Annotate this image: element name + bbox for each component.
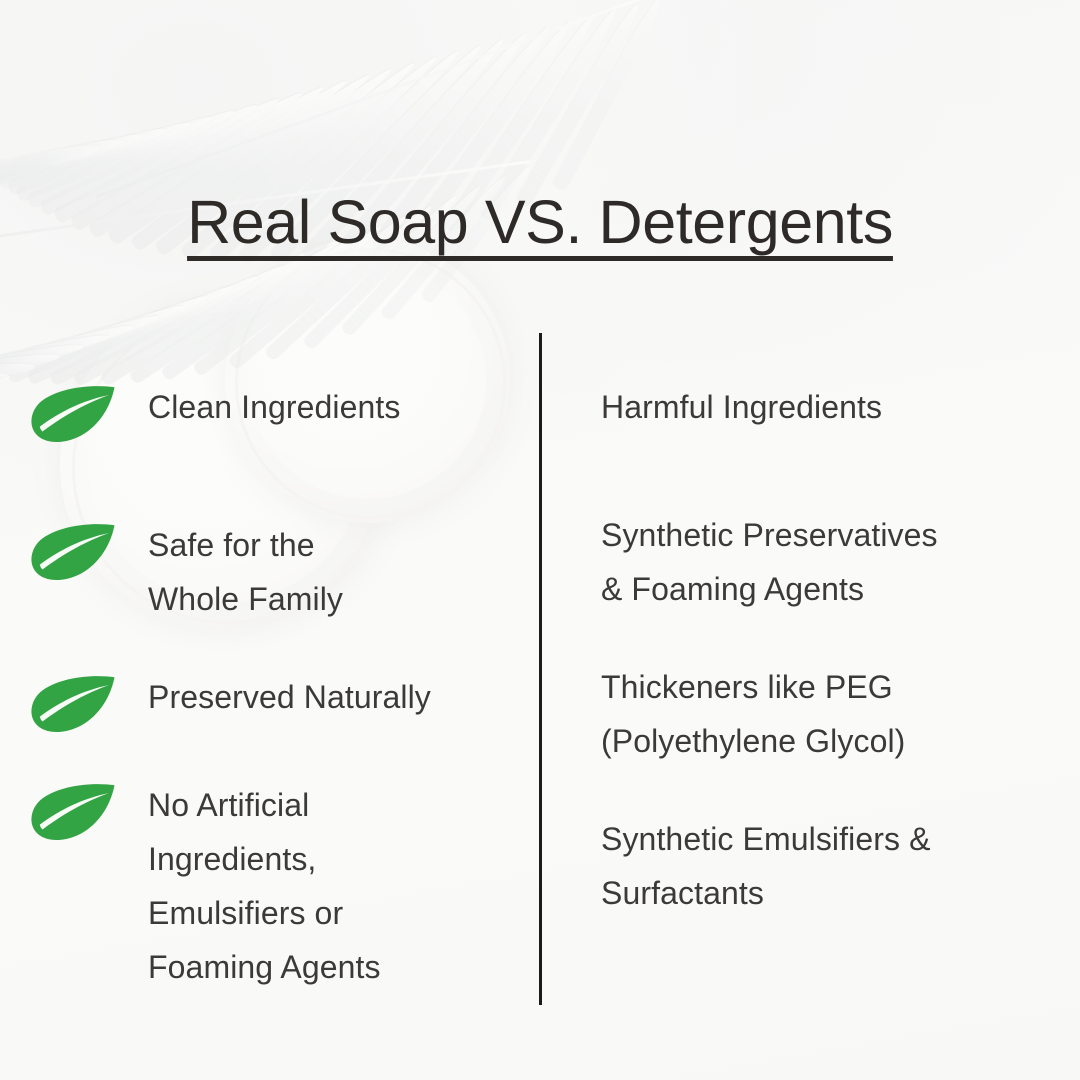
poster-content: Real Soap VS. Detergents Clean Ingredien… bbox=[0, 0, 1080, 1080]
list-item: Thickeners like PEG (Polyethylene Glycol… bbox=[601, 660, 1031, 768]
list-item-label: Harmful Ingredients bbox=[601, 380, 882, 434]
list-item: Synthetic Preservatives & Foaming Agents bbox=[601, 508, 1031, 616]
column-divider bbox=[539, 333, 542, 1005]
leaf-icon bbox=[30, 518, 148, 582]
list-item-label: Clean Ingredients bbox=[148, 380, 401, 434]
page-title-text: Real Soap VS. Detergents bbox=[187, 188, 893, 256]
comparison-column-right: Harmful Ingredients Synthetic Preservati… bbox=[601, 380, 1031, 920]
leaf-icon bbox=[30, 670, 148, 734]
leaf-icon bbox=[30, 380, 148, 444]
list-item: Clean Ingredients bbox=[30, 380, 530, 444]
comparison-column-left: Clean Ingredients Safe for the Whole Fam… bbox=[30, 380, 530, 994]
list-item: Harmful Ingredients bbox=[601, 380, 1031, 434]
list-item-label: Preserved Naturally bbox=[148, 670, 431, 724]
list-item: No Artificial Ingredients, Emulsifiers o… bbox=[30, 778, 530, 994]
list-item-label: Safe for the Whole Family bbox=[148, 518, 343, 626]
list-item: Safe for the Whole Family bbox=[30, 518, 530, 626]
poster-canvas: Real Soap VS. Detergents Clean Ingredien… bbox=[0, 0, 1080, 1080]
list-item-label: No Artificial Ingredients, Emulsifiers o… bbox=[148, 778, 381, 994]
list-item: Synthetic Emulsifiers & Surfactants bbox=[601, 812, 1031, 920]
list-item: Preserved Naturally bbox=[30, 670, 530, 734]
list-item-label: Synthetic Emulsifiers & Surfactants bbox=[601, 812, 931, 920]
page-title: Real Soap VS. Detergents bbox=[0, 190, 1080, 254]
list-item-label: Thickeners like PEG (Polyethylene Glycol… bbox=[601, 660, 905, 768]
list-item-label: Synthetic Preservatives & Foaming Agents bbox=[601, 508, 938, 616]
leaf-icon bbox=[30, 778, 148, 842]
